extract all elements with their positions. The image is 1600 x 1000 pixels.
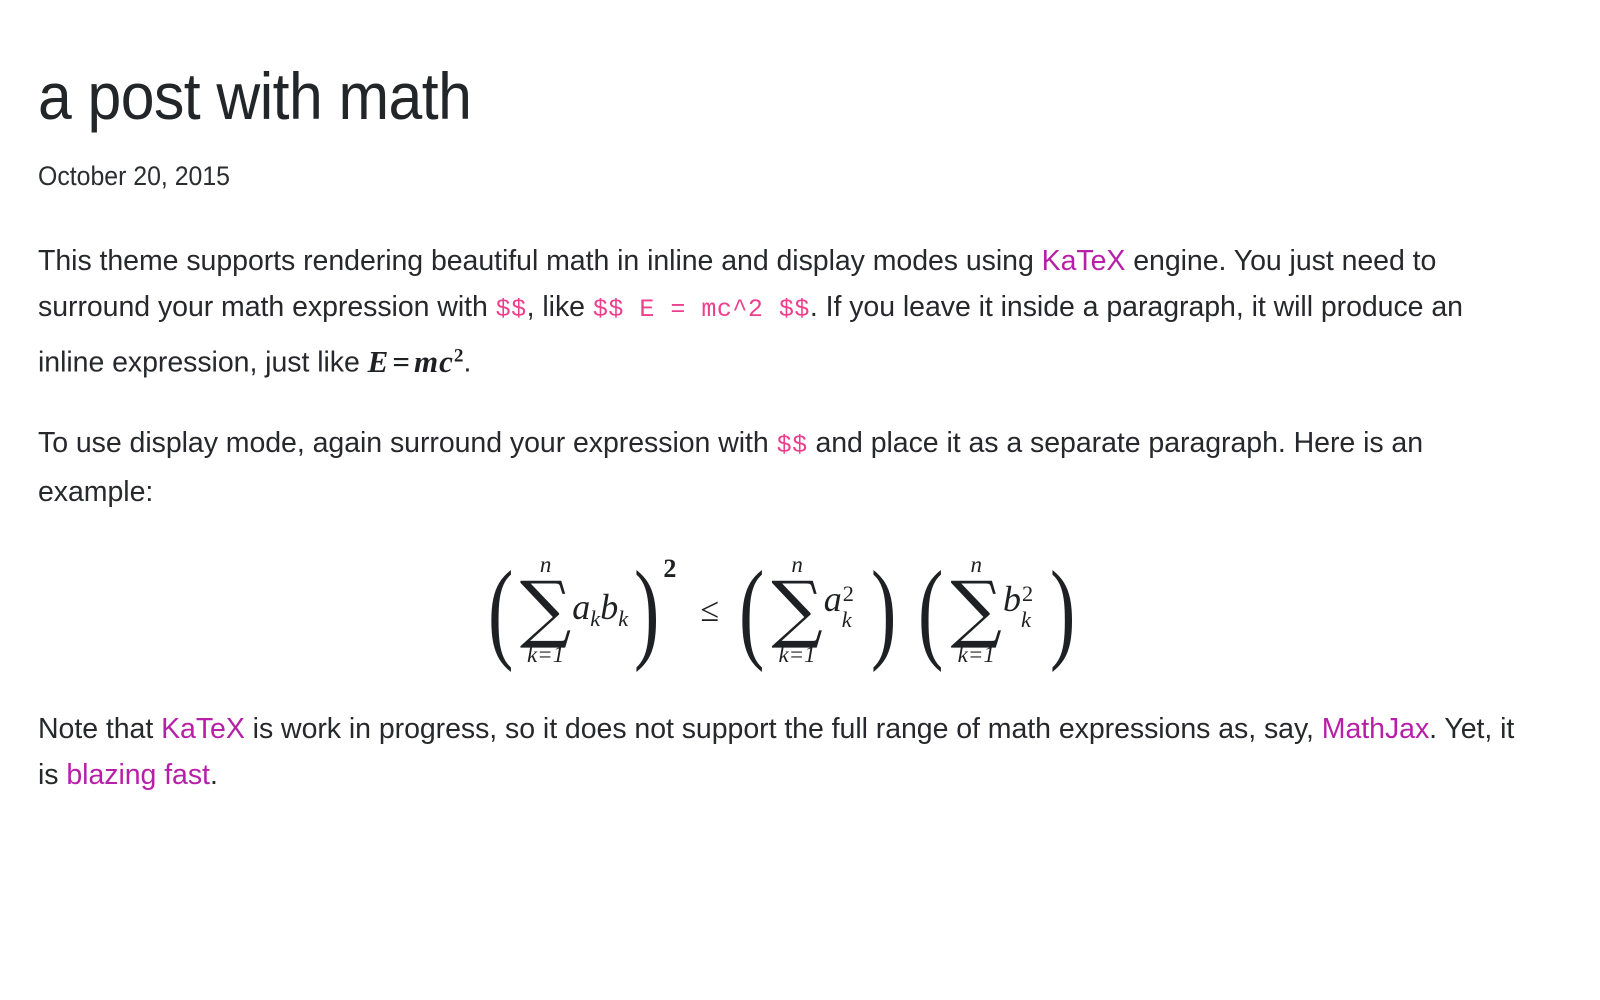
sigma-icon-3: ∑ [951,577,1002,640]
outer-exponent: 2 [663,554,676,584]
term-b-squared-k: b2k [1003,578,1032,641]
mid-paren-open: ( [739,568,764,655]
display-math-container: ( n ∑ k=1 ak bk ) 2 ≤ ( n ∑ k=1 [38,553,1560,666]
mid-paren-close: ) [871,568,896,655]
intro-text-part-3: , like [527,291,593,323]
summation-3: n ∑ k=1 [951,553,1002,666]
term-b2-superscript: 2 [1022,583,1033,605]
paragraph-note: Note that KaTeX is work in progress, so … [38,706,1532,798]
link-mathjax[interactable]: MathJax [1322,713,1429,745]
term-b2-base: b [1003,579,1021,619]
link-blazing-fast[interactable]: blazing fast [66,759,210,791]
math-group-right: ( n ∑ k=1 b2k ) [912,553,1081,666]
inline-math-rhs-base: mc [414,344,454,379]
left-paren-close-1: ) [634,568,659,655]
term-b-subscript: k [618,606,628,631]
summation-2: n ∑ k=1 [771,553,822,666]
sigma-icon-2: ∑ [771,577,822,640]
intro-text-part-5: . [463,347,471,379]
inline-math-emc2: E=mc2 [368,344,464,379]
term-a2-stack: 2k [843,583,854,631]
intro-text-part-1: This theme supports rendering beautiful … [38,245,1042,277]
right-paren-open: ( [918,568,943,655]
math-group-left: ( n ∑ k=1 ak bk ) 2 [482,553,687,666]
note-text-part-1: Note that [38,713,161,745]
note-text-part-4: . [210,759,218,791]
left-paren-open-1: ( [488,568,513,655]
inline-math-operator: = [389,344,414,379]
paragraph-display-mode: To use display mode, again surround your… [38,420,1532,515]
note-text-part-2: is work in progress, so it does not supp… [245,713,1322,745]
link-katex-note[interactable]: KaTeX [161,713,245,745]
summation-1: n ∑ k=1 [520,553,571,666]
sigma-icon-1: ∑ [520,577,571,640]
right-paren-close: ) [1050,568,1075,655]
term-a2-superscript: 2 [843,583,854,605]
term-a-squared-k: a2k [824,578,853,641]
term-a-subscript: k [590,606,600,631]
page-title: a post with math [38,62,1438,131]
term-b-base: b [600,587,618,627]
math-group-middle: ( n ∑ k=1 a2k ) [733,553,902,666]
post-date: October 20, 2015 [38,161,1438,192]
link-katex-intro[interactable]: KaTeX [1042,245,1126,277]
term-b2-stack: 2k [1022,583,1033,631]
paragraph-intro: This theme supports rendering beautiful … [38,238,1532,386]
code-math-example: $$ E = mc^2 $$ [593,295,810,324]
term-a2-subscript: k [842,609,853,631]
display-math-cauchy-schwarz: ( n ∑ k=1 ak bk ) 2 ≤ ( n ∑ k=1 [482,553,1082,666]
inline-math-lhs: E [368,344,390,379]
term-b-k: bk [600,586,628,632]
display-mode-text-part-1: To use display mode, again surround your… [38,427,777,459]
term-a-k: ak [572,586,600,632]
code-dollar-delimiters: $$ [496,295,527,324]
term-a2-base: a [824,579,842,619]
relation-leq: ≤ [700,592,719,630]
code-dollar-delimiters-2: $$ [777,431,808,460]
term-b2-subscript: k [1021,609,1032,631]
term-a-base: a [572,587,590,627]
post-page: a post with math October 20, 2015 This t… [0,0,1600,798]
